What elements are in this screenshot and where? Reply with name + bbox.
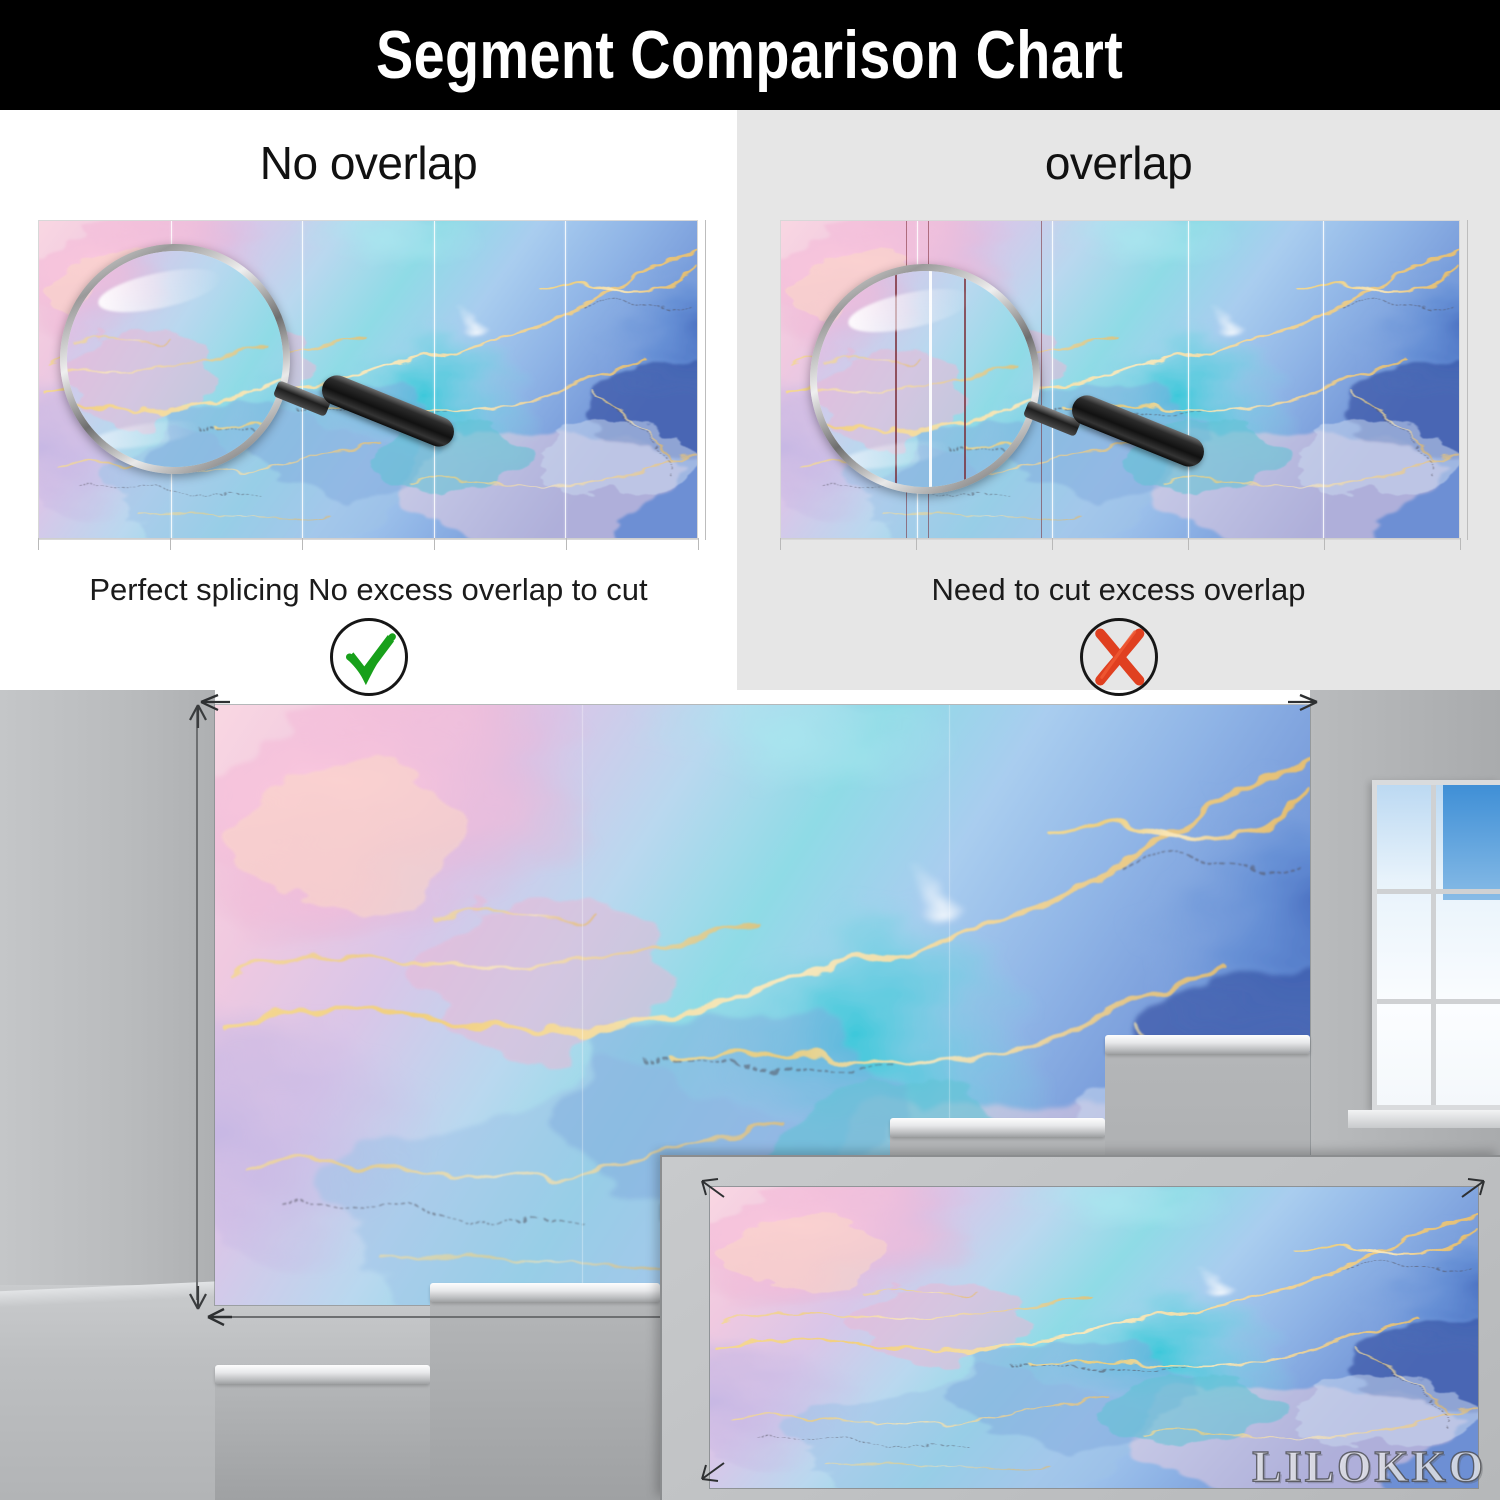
inset-corner-arrow-bottom-left	[698, 1459, 728, 1485]
dim-arrow-left	[206, 1304, 234, 1330]
page-title: Segment Comparison Chart	[376, 16, 1123, 94]
strip-right-tick-right	[1467, 220, 1468, 540]
window-mullion-vertical	[1431, 785, 1436, 1105]
check-mark-icon	[330, 618, 408, 696]
overlap-cut-line-2a	[1041, 221, 1042, 539]
strip-right-tick-left	[705, 220, 706, 540]
overlap-cut-line-1a	[906, 221, 907, 539]
window-mullion-horizontal-1	[1377, 889, 1500, 894]
seam-line-3	[1188, 221, 1189, 539]
seam-line-2	[302, 221, 303, 539]
window	[1372, 780, 1500, 1110]
inset-corner-arrow-top-right	[1458, 1175, 1488, 1201]
comparison-section: No overlap	[0, 110, 1500, 690]
window-sky	[1443, 785, 1500, 900]
overlap-heading: overlap	[737, 110, 1500, 190]
stair-step-1	[215, 1382, 430, 1500]
title-banner: Segment Comparison Chart	[0, 0, 1500, 110]
seam-line-1	[917, 221, 918, 539]
check-mark-wrap	[0, 618, 737, 696]
overlap-cut-line-1b	[928, 221, 929, 539]
cross-mark-wrap	[737, 618, 1500, 696]
corner-arrow-top-right	[1286, 692, 1320, 722]
window-sill	[1348, 1110, 1500, 1128]
marble-artwork-right	[781, 221, 1459, 539]
marble-artwork-left	[39, 221, 697, 539]
no-overlap-mural-strip	[38, 220, 698, 540]
window-mullion-horizontal-2	[1377, 999, 1500, 1004]
brand-watermark: LILOKKO	[1252, 1441, 1486, 1492]
inset-preview-panel: LILOKKO	[660, 1155, 1500, 1500]
room-mockup-scene: LILOKKO	[0, 690, 1500, 1500]
seam-line-2	[1052, 221, 1053, 539]
seam-line-1	[171, 221, 172, 539]
seam-line-3	[434, 221, 435, 539]
inset-corner-arrow-top-left	[698, 1175, 728, 1201]
overlap-mural-strip	[780, 220, 1460, 540]
corner-arrow-top-left	[198, 692, 232, 722]
strip-ruler-left	[38, 536, 698, 550]
no-overlap-caption: Perfect splicing No excess overlap to cu…	[0, 572, 737, 608]
overlap-caption: Need to cut excess overlap	[737, 572, 1500, 608]
comparison-panel-overlap: overlap	[737, 110, 1500, 690]
seam-line-4	[1323, 221, 1324, 539]
overlap-preview	[780, 220, 1460, 540]
cross-mark-icon	[1080, 618, 1158, 696]
stair-step-2	[430, 1300, 660, 1500]
no-overlap-heading: No overlap	[0, 110, 737, 190]
strip-ruler-right	[780, 536, 1460, 550]
no-overlap-preview	[38, 220, 698, 540]
comparison-panel-no-overlap: No overlap	[0, 110, 737, 690]
room-seam-1	[582, 705, 583, 1305]
seam-line-4	[565, 221, 566, 539]
